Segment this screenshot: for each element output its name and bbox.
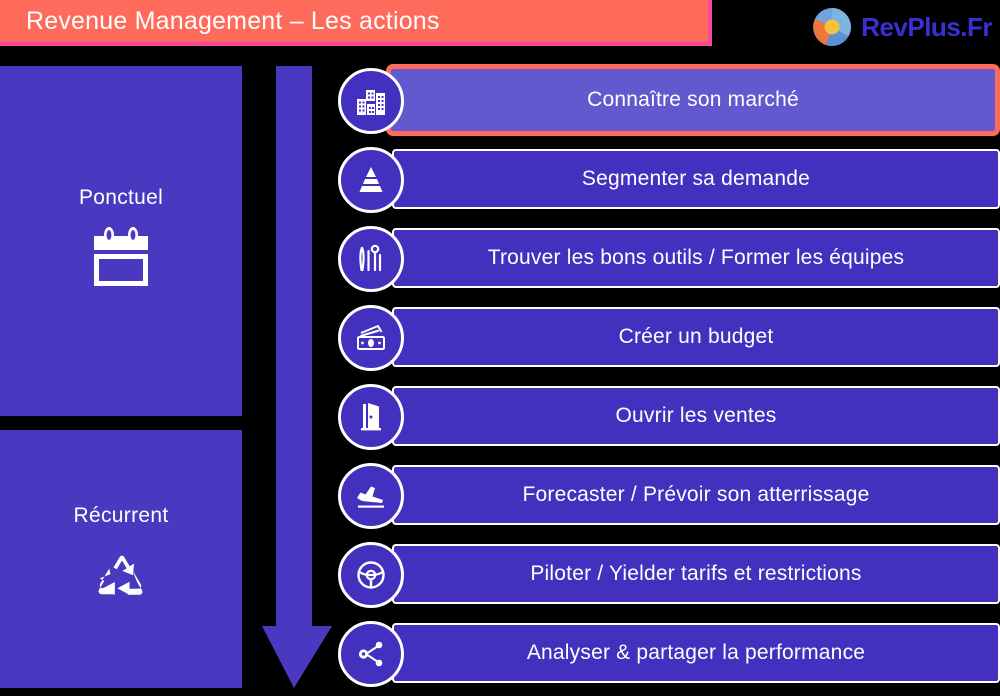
step-label: Analyser & partager la performance	[511, 641, 881, 665]
step-row[interactable]: Forecaster / Prévoir son atterrissage	[338, 459, 1000, 531]
steps-list: Connaître son marché	[338, 64, 1000, 696]
buildings-icon[interactable]	[338, 68, 404, 134]
step-row[interactable]: Piloter / Yielder tarifs et restrictions	[338, 538, 1000, 610]
recycle-icon	[85, 542, 157, 614]
step-row[interactable]: Connaître son marché	[338, 64, 1000, 136]
down-arrow-icon	[262, 66, 340, 688]
step-row[interactable]: Trouver les bons outils / Former les équ…	[338, 222, 1000, 294]
category-label: Récurrent	[74, 504, 169, 528]
banknote-icon[interactable]	[338, 305, 404, 371]
step-label: Créer un budget	[603, 325, 790, 349]
step-bar[interactable]: Analyser & partager la performance	[392, 623, 1000, 683]
open-door-icon[interactable]	[338, 384, 404, 450]
step-label: Connaître son marché	[571, 88, 815, 112]
step-bar[interactable]: Forecaster / Prévoir son atterrissage	[392, 465, 1000, 525]
airplane-icon[interactable]	[338, 463, 404, 529]
step-row[interactable]: Créer un budget	[338, 301, 1000, 373]
category-box-ponctuel: Ponctuel	[0, 66, 242, 416]
share-nodes-icon[interactable]	[338, 621, 404, 687]
step-label: Forecaster / Prévoir son atterrissage	[506, 483, 885, 507]
calendar-icon	[85, 224, 157, 296]
step-row[interactable]: Ouvrir les ventes	[338, 380, 1000, 452]
step-bar[interactable]: Trouver les bons outils / Former les équ…	[392, 228, 1000, 288]
step-row[interactable]: Analyser & partager la performance	[338, 617, 1000, 689]
step-label: Segmenter sa demande	[566, 167, 826, 191]
step-bar[interactable]: Ouvrir les ventes	[392, 386, 1000, 446]
step-bar[interactable]: Piloter / Yielder tarifs et restrictions	[392, 544, 1000, 604]
category-label: Ponctuel	[79, 186, 163, 210]
step-label: Piloter / Yielder tarifs et restrictions	[514, 562, 877, 586]
step-bar[interactable]: Créer un budget	[392, 307, 1000, 367]
tools-icon[interactable]	[338, 226, 404, 292]
page-title: Revenue Management – Les actions	[0, 7, 440, 36]
page-title-bar: Revenue Management – Les actions	[0, 0, 712, 46]
step-row[interactable]: Segmenter sa demande	[338, 143, 1000, 215]
category-box-recurrent: Récurrent	[0, 430, 242, 688]
pie-chart-logo-icon	[812, 7, 852, 47]
step-bar[interactable]: Segmenter sa demande	[392, 149, 1000, 209]
step-label: Trouver les bons outils / Former les équ…	[472, 246, 921, 270]
brand-logo: RevPlus.Fr	[812, 4, 992, 50]
step-bar[interactable]: Connaître son marché	[386, 64, 1000, 136]
pyramid-icon[interactable]	[338, 147, 404, 213]
brand-name: RevPlus.Fr	[861, 12, 992, 43]
step-label: Ouvrir les ventes	[600, 404, 793, 428]
steering-wheel-icon[interactable]	[338, 542, 404, 608]
